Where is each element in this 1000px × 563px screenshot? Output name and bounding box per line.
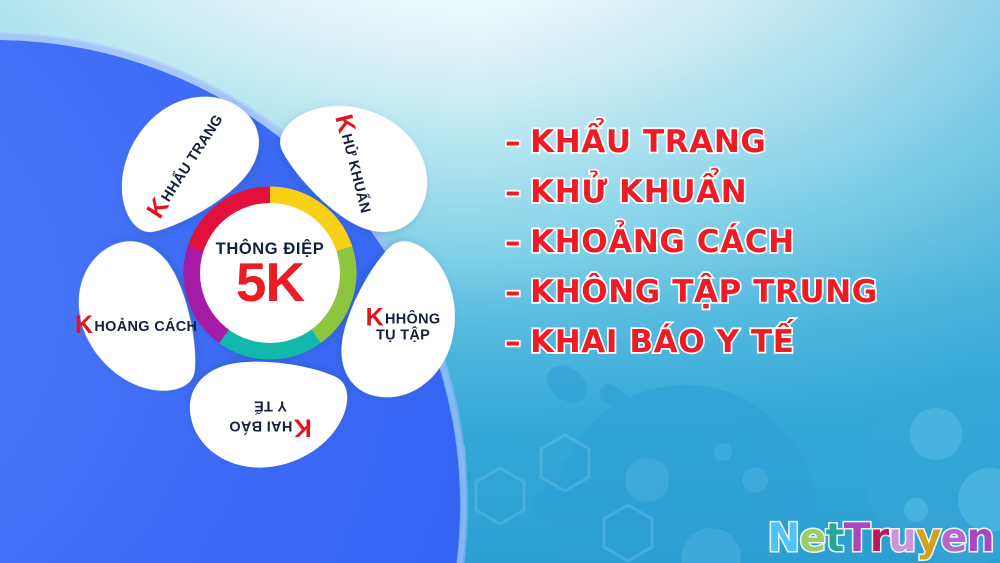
petal-text-line2: Y TẾ bbox=[229, 397, 312, 412]
petal-initial: K bbox=[293, 416, 311, 437]
watermark-letter-8: n bbox=[967, 516, 994, 561]
petal-khai-bao-y-te[interactable]: KHAI BÁO Y TẾ bbox=[186, 357, 354, 473]
watermark-letter-0: N bbox=[767, 516, 799, 561]
list-item-label: KHOẢNG CÁCH bbox=[530, 224, 795, 260]
nettruyen-watermark: NetTruyen bbox=[767, 516, 994, 561]
watermark-letter-6: y bbox=[916, 516, 941, 561]
bullet-dash: – bbox=[505, 224, 521, 260]
ring-center-value: 5K bbox=[236, 256, 304, 309]
list-item-label: KHÔNG TẬP TRUNG bbox=[530, 274, 878, 310]
watermark-letter-5: u bbox=[889, 516, 916, 561]
petal-shape bbox=[186, 357, 354, 473]
list-item-label: KHẨU TRANG bbox=[530, 124, 766, 160]
petal-text: HHÔNG bbox=[385, 312, 440, 327]
bullet-dash: – bbox=[505, 174, 521, 210]
list-item: – KHAI BÁO Y TẾ bbox=[505, 324, 975, 360]
ring-center: THÔNG ĐIỆP 5K bbox=[200, 203, 340, 343]
watermark-letter-7: e bbox=[941, 516, 967, 561]
petal-text: HHẨU TRANG bbox=[160, 113, 227, 206]
bullet-dash: – bbox=[505, 324, 521, 360]
petal-label: KHAI BÁO Y TẾ bbox=[186, 357, 354, 473]
petal-text: HAI BÁO bbox=[229, 417, 292, 432]
watermark-letter-2: t bbox=[826, 516, 844, 561]
bullet-dash: – bbox=[505, 124, 521, 160]
poster-canvas: KHHẨU TRANG KHỬ KHUẨN KHHÔNG TỤ TẬP bbox=[0, 0, 1000, 563]
petal-initial: K bbox=[366, 307, 384, 328]
list-item-label: KHỬ KHUẨN bbox=[530, 174, 747, 210]
petal-initial: K bbox=[145, 195, 173, 222]
petal-text-line2: TỤ TẬP bbox=[366, 329, 441, 344]
list-item: – KHÔNG TẬP TRUNG bbox=[505, 274, 975, 310]
petal-initial: K bbox=[75, 315, 93, 336]
list-item: – KHOẢNG CÁCH bbox=[505, 224, 975, 260]
list-item: – KHỬ KHUẨN bbox=[505, 174, 975, 210]
message-list: – KHẨU TRANG – KHỬ KHUẨN – KHOẢNG CÁCH –… bbox=[505, 124, 975, 374]
petal-text: HOẢNG CÁCH bbox=[95, 320, 198, 335]
watermark-letter-4: r bbox=[870, 516, 889, 561]
bullet-dash: – bbox=[505, 274, 521, 310]
watermark-letter-3: T bbox=[844, 516, 870, 561]
list-item-label: KHAI BÁO Y TẾ bbox=[530, 324, 794, 360]
watermark-letter-1: e bbox=[800, 516, 826, 561]
list-item: – KHẨU TRANG bbox=[505, 124, 975, 160]
petal-initial: K bbox=[332, 113, 357, 136]
five-k-diagram: KHHẨU TRANG KHỬ KHUẨN KHHÔNG TỤ TẬP bbox=[60, 88, 480, 458]
petal-text: HỬ KHUẨN bbox=[337, 133, 371, 216]
